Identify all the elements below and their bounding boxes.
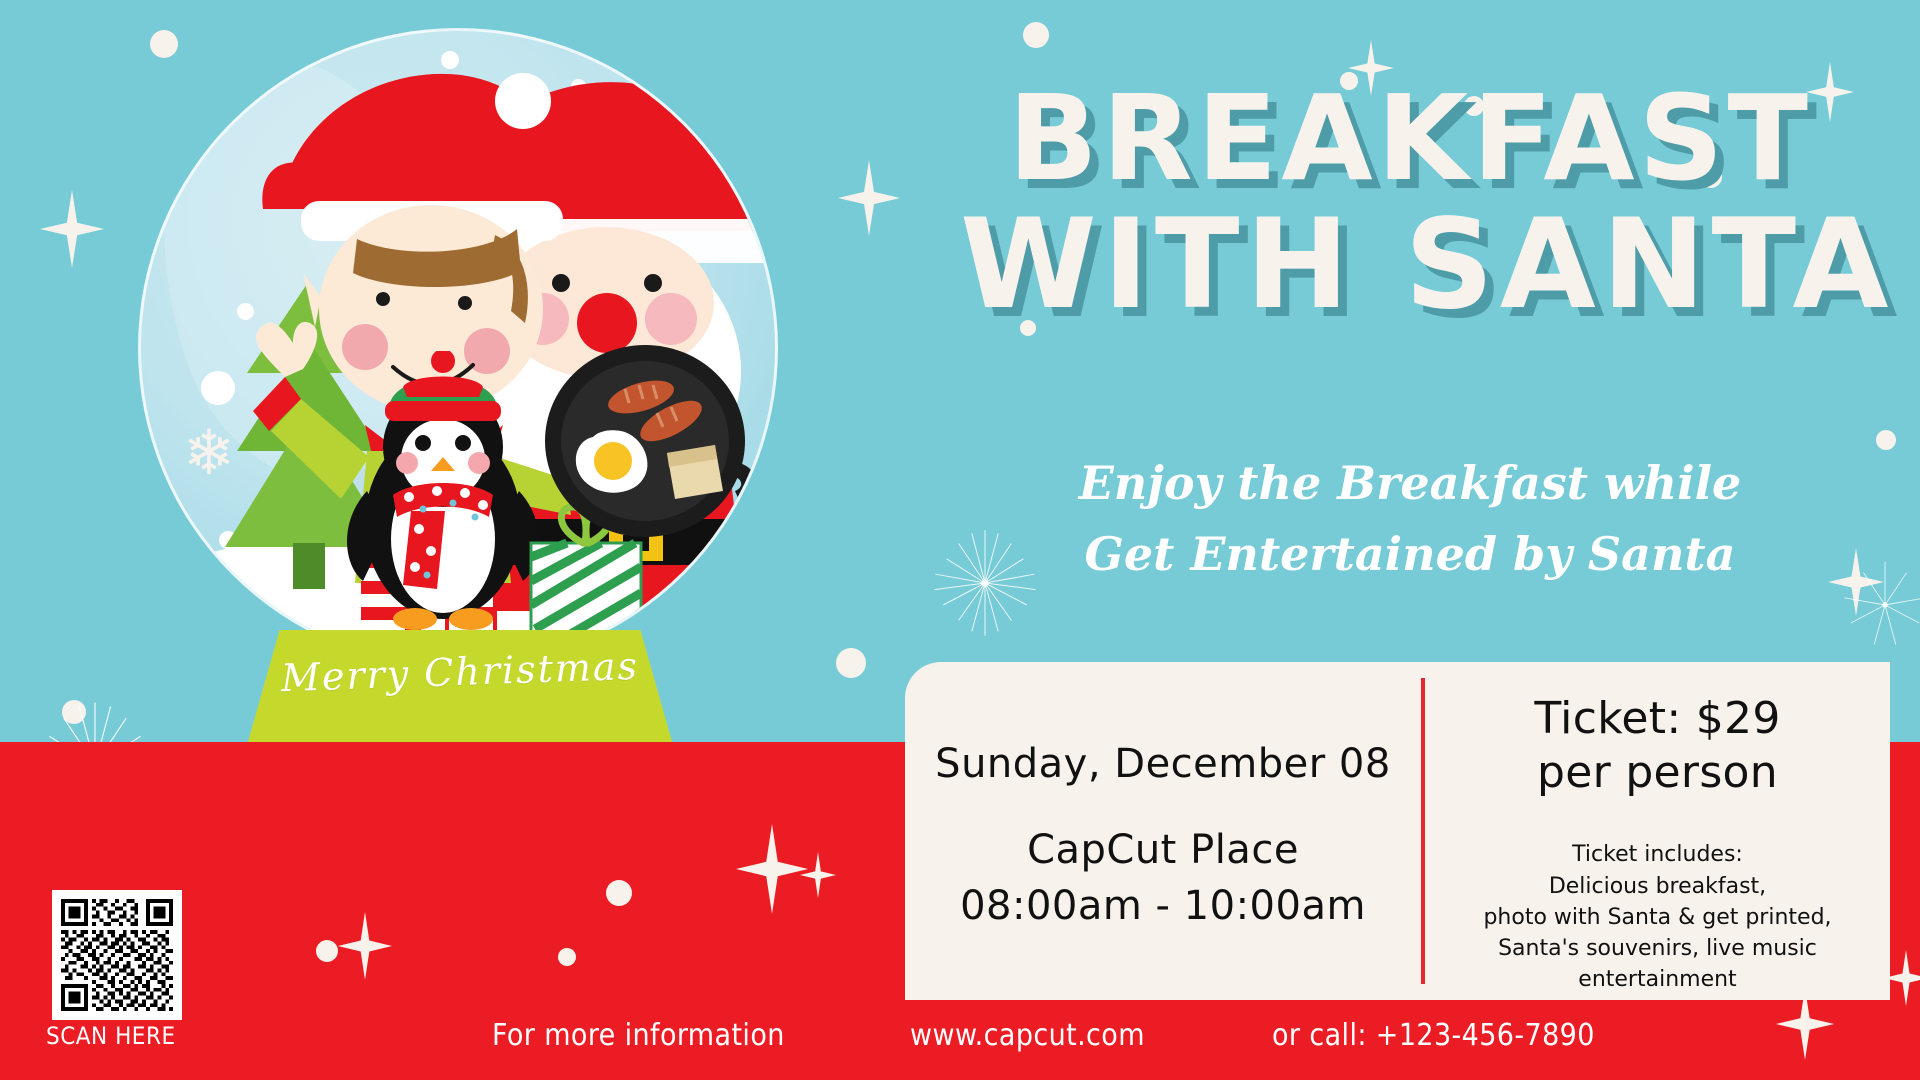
poster-subtitle: Enjoy the Breakfast while Get Entertaine…: [960, 448, 1860, 591]
event-details-panel: Sunday, December 08 CapCut Place 08:00am…: [905, 662, 1421, 1000]
ticket-includes-line: Delicious breakfast,: [1483, 871, 1831, 902]
info-card: Sunday, December 08 CapCut Place 08:00am…: [905, 662, 1890, 1000]
ticket-includes-line: photo with Santa & get printed,: [1483, 902, 1831, 933]
event-date: Sunday, December 08: [935, 741, 1391, 787]
subtitle-line-2: Get Entertained by Santa: [960, 519, 1860, 590]
title-line-1: BREAKFAST: [960, 78, 1860, 198]
decor-dot: [316, 940, 338, 962]
poster-canvas: ❄ ❄ ❄ ❄: [0, 0, 1920, 1080]
footer-phone[interactable]: or call: +123-456-7890: [1272, 1018, 1595, 1053]
decor-dot: [558, 948, 576, 966]
decor-dot: [1876, 430, 1896, 450]
ticket-price-line-1: Ticket: $29: [1534, 692, 1780, 746]
globe-glass: ❄ ❄: [138, 28, 778, 668]
ticket-includes-line: entertainment: [1483, 964, 1831, 995]
title-line-2: WITH SANTA: [960, 202, 1860, 328]
footer-website[interactable]: www.capcut.com: [910, 1018, 1145, 1053]
penguin-character: [333, 351, 553, 641]
event-time: 08:00am - 10:00am: [960, 883, 1366, 929]
footer-more-info: For more information: [492, 1018, 785, 1053]
globe-snow-dot: [225, 87, 247, 109]
ticket-price: Ticket: $29 per person: [1534, 692, 1780, 799]
event-venue: CapCut Place: [1027, 827, 1299, 873]
subtitle-line-1: Enjoy the Breakfast while: [960, 448, 1860, 519]
poster-title: BREAKFAST WITH SANTA: [960, 78, 1860, 329]
ticket-includes-heading: Ticket includes:: [1483, 839, 1831, 870]
decor-dot: [1023, 22, 1049, 48]
scan-here-label: SCAN HERE: [46, 1022, 176, 1050]
qr-code-image: [61, 899, 173, 1011]
ticket-includes-line: Santa's souvenirs, live music: [1483, 933, 1831, 964]
ticket-price-line-2: per person: [1534, 746, 1780, 800]
qr-code[interactable]: [52, 890, 182, 1020]
ticket-panel: Ticket: $29 per person Ticket includes: …: [1425, 662, 1890, 1000]
snow-globe-illustration: ❄ ❄: [60, 10, 860, 840]
ticket-includes: Ticket includes: Delicious breakfast, ph…: [1483, 839, 1831, 995]
decor-dot: [606, 880, 632, 906]
breakfast-pan-icon: [537, 341, 767, 541]
